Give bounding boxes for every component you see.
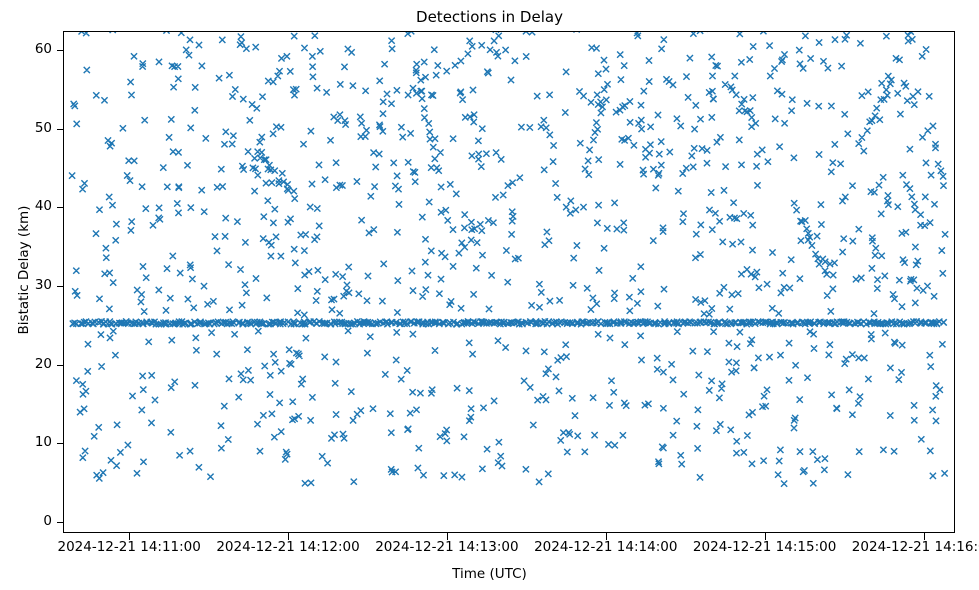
- y-axis-tick-mark: [57, 522, 64, 523]
- y-axis-tick-mark: [57, 207, 64, 208]
- y-axis-tick-label: 50: [8, 122, 52, 136]
- chart-title: Detections in Delay: [0, 8, 979, 26]
- x-axis-tick-label: 2024-12-21 14:16:00: [804, 540, 979, 554]
- y-axis-tick-label: 60: [8, 43, 52, 57]
- x-axis-tick-mark: [288, 533, 289, 540]
- scatter-series: [64, 32, 955, 533]
- y-axis-tick-label: 0: [8, 515, 52, 529]
- y-axis-tick-mark: [57, 365, 64, 366]
- x-axis-label: Time (UTC): [0, 566, 979, 582]
- y-axis-tick-mark: [57, 129, 64, 130]
- y-axis-tick-mark: [57, 286, 64, 287]
- x-axis-tick-mark: [447, 533, 448, 540]
- y-axis-tick-label: 10: [8, 436, 52, 450]
- x-axis-tick-mark: [765, 533, 766, 540]
- figure-canvas: Detections in Delay 0102030405060 2024-1…: [0, 0, 979, 590]
- plot-area[interactable]: [63, 31, 955, 533]
- scatter-markers: [69, 32, 948, 487]
- y-axis-label: Bistatic Delay (km): [16, 150, 32, 390]
- y-axis-tick-mark: [57, 50, 64, 51]
- y-axis-tick-mark: [57, 443, 64, 444]
- x-axis-tick-mark: [924, 533, 925, 540]
- x-axis-tick-mark: [129, 533, 130, 540]
- x-axis-tick-mark: [606, 533, 607, 540]
